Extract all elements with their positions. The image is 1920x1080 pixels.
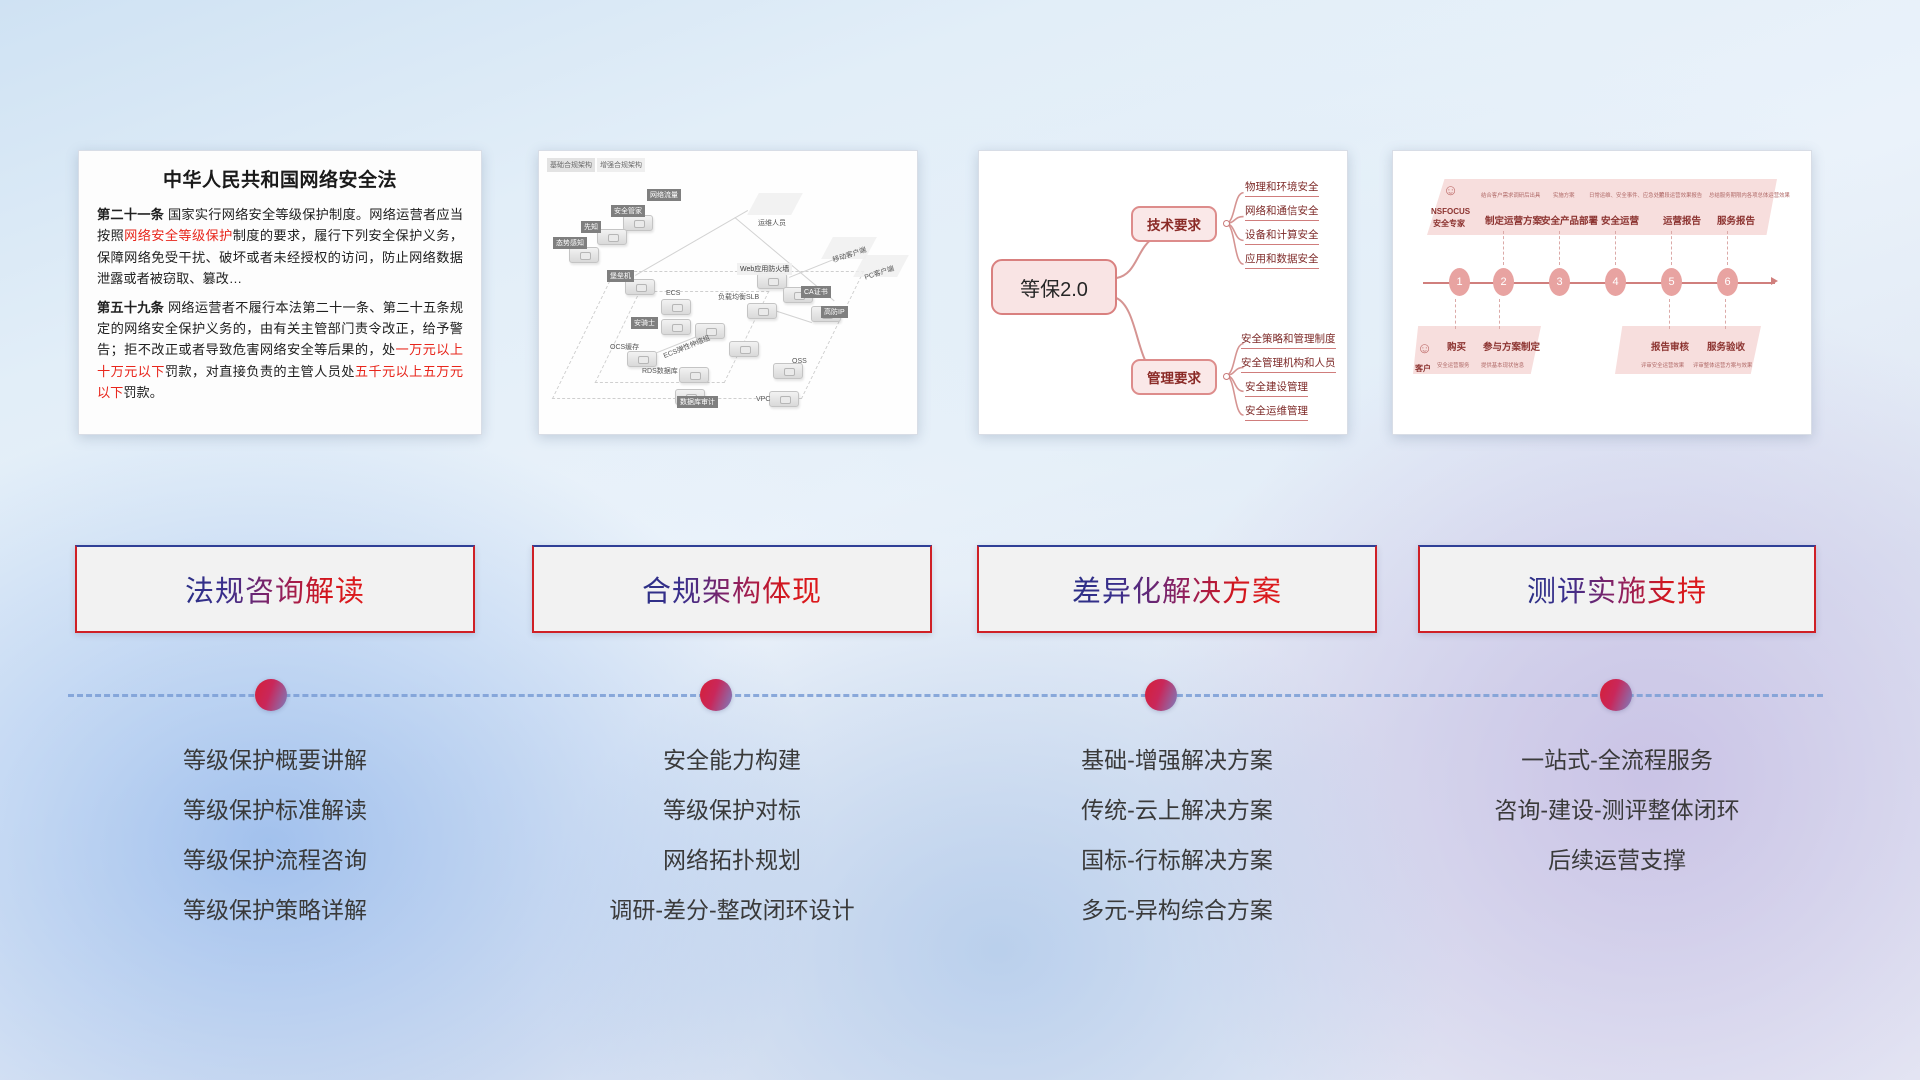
ops-step-4[interactable]: 4 xyxy=(1605,268,1626,296)
mindmap-leaf-operation: 安全运维管理 xyxy=(1245,403,1308,421)
list-item: 等级保护概要讲解 xyxy=(75,735,475,785)
ops-stem-b4 xyxy=(1725,299,1726,329)
detail-list-compliance-architecture: 安全能力构建 等级保护对标 网络拓扑规划 调研-差分-整改闭环设计 xyxy=(532,735,932,935)
architecture-label-waf: Web应用防火墙 xyxy=(737,263,792,275)
heading-label-4: 测评实施支持 xyxy=(1527,568,1707,610)
ops-bottom-main-3: 报告审核 xyxy=(1651,339,1689,353)
ops-top-main-5: 服务报告 xyxy=(1717,213,1755,227)
mindmap-leaf-organization: 安全管理机构和人员 xyxy=(1241,355,1336,373)
architecture-label-rds: RDS数据库 xyxy=(639,365,681,377)
heading-box-assessment-support[interactable]: 测评实施支持 xyxy=(1418,545,1816,633)
ops-stem-b1 xyxy=(1455,299,1456,329)
list-item: 等级保护对标 xyxy=(532,785,932,835)
ops-bottom-main-1: 购买 xyxy=(1447,339,1466,353)
ops-top-sub-3: 日常运维、安全事件、应急处置 xyxy=(1589,191,1664,199)
ops-top-main-4: 运营报告 xyxy=(1663,213,1701,227)
architecture-node-ecs xyxy=(661,299,691,315)
heading-box-regulation-consulting[interactable]: 法规咨询解读 xyxy=(75,545,475,633)
law-article-21-label: 第二十一条 xyxy=(97,207,164,222)
ops-step-1[interactable]: 1 xyxy=(1449,268,1470,296)
architecture-node-waf xyxy=(757,273,787,289)
architecture-label-oss: OSS xyxy=(789,357,810,366)
law-card-body: 中华人民共和国网络安全法 第二十一条 国家实行网络安全等级保护制度。网络运营者应… xyxy=(79,151,481,413)
architecture-label-ops-user: 运维人员 xyxy=(755,217,789,229)
ops-top-sub-4: 阶段运营效果报告 xyxy=(1659,191,1702,199)
architecture-label-ocs: OCS缓存 xyxy=(607,341,642,353)
timeline-dot-4 xyxy=(1600,679,1632,711)
list-item: 等级保护策略详解 xyxy=(75,885,475,935)
mindmap-leaf-policy: 安全策略和管理制度 xyxy=(1241,331,1336,349)
law-article-59: 第五十九条 网络运营者不履行本法第二十一条、第二十五条规定的网络安全保护义务的，… xyxy=(97,297,463,404)
ops-expert-avatar-icon: ☺ xyxy=(1443,183,1458,198)
architecture-node-rds xyxy=(679,367,709,383)
ops-bottom-sub-3: 评审安全运营效果 xyxy=(1641,361,1684,369)
mindmap-root-node: 等保2.0 xyxy=(991,259,1117,315)
ops-bottom-sub-4: 评审整体运营方案与效果 xyxy=(1693,361,1752,369)
list-item: 传统-云上解决方案 xyxy=(977,785,1377,835)
thumbnail-law-card[interactable]: 中华人民共和国网络安全法 第二十一条 国家实行网络安全等级保护制度。网络运营者应… xyxy=(78,150,482,435)
architecture-label-db-audit: 数据库审计 xyxy=(677,396,718,408)
architecture-label-antiddos: 高防IP xyxy=(821,306,848,318)
mindmap-branch-management: 管理要求 xyxy=(1131,359,1217,395)
architecture-label-ecs: ECS xyxy=(663,289,683,298)
timeline-connector xyxy=(0,675,1920,715)
architecture-tab-enhanced[interactable]: 增强合规架构 xyxy=(597,158,645,172)
timeline-dot-1 xyxy=(255,679,287,711)
law-article-59-text-c: 罚款。 xyxy=(123,385,163,400)
detail-list-differentiated-solution: 基础-增强解决方案 传统-云上解决方案 国标-行标解决方案 多元-异构综合方案 xyxy=(977,735,1377,935)
architecture-label-vpc: VPC xyxy=(753,395,773,404)
ops-stem-2 xyxy=(1559,231,1560,265)
law-article-21-highlight: 网络安全等级保护 xyxy=(124,228,233,243)
ops-timeline-diagram: ☺ NSFOCUS 安全专家 ☺ 客户 结合客户需求调研后出具 制定运营方案 实… xyxy=(1393,151,1811,434)
list-item: 多元-异构综合方案 xyxy=(977,885,1377,935)
law-card-title: 中华人民共和国网络安全法 xyxy=(97,165,463,192)
architecture-label-housekeeper: 安全管家 xyxy=(611,205,645,217)
ops-top-sub-5: 总结服务期限内各项总体运营效果 xyxy=(1709,191,1790,199)
heading-row: 法规咨询解读 合规架构体现 差异化解决方案 测评实施支持 xyxy=(0,545,1920,637)
ops-step-2[interactable]: 2 xyxy=(1493,268,1514,296)
list-item: 基础-增强解决方案 xyxy=(977,735,1377,785)
law-article-59-label: 第五十九条 xyxy=(97,300,164,315)
ops-stem-4 xyxy=(1671,231,1672,265)
ops-stem-b2 xyxy=(1499,299,1500,329)
architecture-node-housekeeper xyxy=(623,215,653,231)
architecture-node-xianzhi xyxy=(597,229,627,245)
ops-bottom-main-2: 参与方案制定 xyxy=(1483,339,1540,353)
architecture-label-xianzhi: 先知 xyxy=(581,221,601,233)
mindmap-collapse-icon-management[interactable] xyxy=(1223,373,1230,380)
ops-customer-avatar-icon: ☺ xyxy=(1417,341,1432,356)
list-item: 调研-差分-整改闭环设计 xyxy=(532,885,932,935)
heading-label-2: 合规架构体现 xyxy=(642,568,822,610)
architecture-node-vpc xyxy=(769,391,799,407)
detail-list-regulation-consulting: 等级保护概要讲解 等级保护标准解读 等级保护流程咨询 等级保护策略详解 xyxy=(75,735,475,935)
timeline-dashed-line xyxy=(68,694,1823,697)
architecture-label-ca: CA证书 xyxy=(801,286,831,298)
ops-step-6[interactable]: 6 xyxy=(1717,268,1738,296)
timeline-dot-2 xyxy=(700,679,732,711)
heading-box-compliance-architecture[interactable]: 合规架构体现 xyxy=(532,545,932,633)
heading-label-3: 差异化解决方案 xyxy=(1072,568,1282,610)
mindmap-leaf-construction: 安全建设管理 xyxy=(1245,379,1308,397)
mindmap-branch-technical: 技术要求 xyxy=(1131,206,1217,242)
list-item: 等级保护流程咨询 xyxy=(75,835,475,885)
architecture-node-scale-b xyxy=(729,341,759,357)
thumbnail-ops-timeline-card[interactable]: ☺ NSFOCUS 安全专家 ☺ 客户 结合客户需求调研后出具 制定运营方案 实… xyxy=(1392,150,1812,435)
ops-bottom-sub-1: 安全运营服务 xyxy=(1437,361,1469,369)
thumbnail-mindmap-card[interactable]: 等保2.0 技术要求 物理和环境安全 网络和通信安全 设备和计算安全 应用和数据… xyxy=(978,150,1348,435)
ops-top-sub-2: 实施方案 xyxy=(1553,191,1575,199)
ops-stem-5 xyxy=(1727,231,1728,265)
architecture-node-anqishi xyxy=(661,319,691,335)
ops-step-5[interactable]: 5 xyxy=(1661,268,1682,296)
list-item: 国标-行标解决方案 xyxy=(977,835,1377,885)
detail-lists-row: 等级保护概要讲解 等级保护标准解读 等级保护流程咨询 等级保护策略详解 安全能力… xyxy=(0,735,1920,975)
ops-step-3[interactable]: 3 xyxy=(1549,268,1570,296)
ops-bottom-sub-2: 提供基本现状信息 xyxy=(1481,361,1524,369)
mindmap-diagram: 等保2.0 技术要求 物理和环境安全 网络和通信安全 设备和计算安全 应用和数据… xyxy=(979,151,1347,434)
mindmap-collapse-icon-technical[interactable] xyxy=(1223,220,1230,227)
architecture-node-slb xyxy=(747,303,777,319)
ops-stem-1 xyxy=(1503,231,1504,265)
ops-expert-brand: NSFOCUS xyxy=(1431,207,1470,216)
heading-label-1: 法规咨询解读 xyxy=(185,568,365,610)
ops-expert-role: 安全专家 xyxy=(1433,218,1465,229)
thumbnail-row: 中华人民共和国网络安全法 第二十一条 国家实行网络安全等级保护制度。网络运营者应… xyxy=(0,150,1920,440)
ops-top-main-2: 安全产品部署 xyxy=(1541,213,1598,227)
list-item: 一站式-全流程服务 xyxy=(1418,735,1816,785)
ops-top-main-1: 制定运营方案 xyxy=(1485,213,1542,227)
list-item: 网络拓扑规划 xyxy=(532,835,932,885)
architecture-label-situation: 态势感知 xyxy=(553,237,587,249)
mindmap-leaf-network: 网络和通信安全 xyxy=(1245,203,1319,221)
list-item: 等级保护标准解读 xyxy=(75,785,475,835)
heading-box-differentiated-solution[interactable]: 差异化解决方案 xyxy=(977,545,1377,633)
ops-bottom-main-4: 服务验收 xyxy=(1707,339,1745,353)
architecture-label-traffic: 网络流量 xyxy=(647,189,681,201)
ops-stem-b3 xyxy=(1669,299,1670,329)
thumbnail-architecture-card[interactable]: 基础合规架构 增强合规架构 网络流量 安全管家 先知 态势感知 堡垒机 运维人员 xyxy=(538,150,918,435)
law-article-59-text-b: 罚款，对直接负责的主管人员处 xyxy=(165,364,355,379)
architecture-label-anqishi: 安骑士 xyxy=(631,317,658,329)
mindmap-leaf-physical: 物理和环境安全 xyxy=(1245,179,1319,197)
architecture-node-situation xyxy=(569,247,599,263)
list-item: 后续运营支撑 xyxy=(1418,835,1816,885)
list-item: 安全能力构建 xyxy=(532,735,932,785)
ops-customer-role: 客户 xyxy=(1415,363,1431,374)
architecture-label-bastion: 堡垒机 xyxy=(607,270,634,282)
architecture-label-slb: 负载均衡SLB xyxy=(715,291,762,303)
architecture-tab-basic[interactable]: 基础合规架构 xyxy=(547,158,595,172)
ops-top-sub-1: 结合客户需求调研后出具 xyxy=(1481,191,1540,199)
ops-axis-arrow-icon xyxy=(1771,277,1778,285)
detail-list-assessment-support: 一站式-全流程服务 咨询-建设-测评整体闭环 后续运营支撑 xyxy=(1418,735,1816,885)
architecture-platform-ops xyxy=(747,193,803,215)
timeline-dot-3 xyxy=(1145,679,1177,711)
architecture-diagram: 基础合规架构 增强合规架构 网络流量 安全管家 先知 态势感知 堡垒机 运维人员 xyxy=(539,151,917,434)
mindmap-leaf-application: 应用和数据安全 xyxy=(1245,251,1319,269)
ops-stem-3 xyxy=(1615,231,1616,265)
mindmap-leaf-device: 设备和计算安全 xyxy=(1245,227,1319,245)
list-item: 咨询-建设-测评整体闭环 xyxy=(1418,785,1816,835)
ops-top-main-3: 安全运营 xyxy=(1601,213,1639,227)
architecture-tabs: 基础合规架构 增强合规架构 xyxy=(547,158,645,172)
law-article-21: 第二十一条 国家实行网络安全等级保护制度。网络运营者应当按照网络安全等级保护制度… xyxy=(97,204,463,290)
